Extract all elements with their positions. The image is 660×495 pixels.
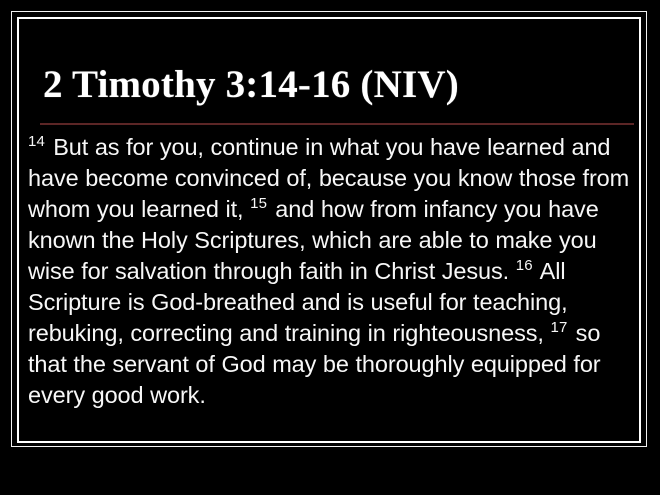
verse-number-16: 16 [516, 257, 535, 274]
slide-content-area: 2 Timothy 3:14-16 (NIV) 14 But as for yo… [19, 19, 639, 441]
scripture-slide: 2 Timothy 3:14-16 (NIV) 14 But as for yo… [0, 0, 660, 495]
verse-number-14: 14 [28, 133, 47, 150]
verse-number-15: 15 [250, 195, 269, 212]
page-title: 2 Timothy 3:14-16 (NIV) [43, 63, 459, 107]
scripture-passage-text: 14 But as for you, continue in what you … [28, 132, 639, 411]
title-divider-rule [40, 123, 634, 125]
verse-number-17: 17 [550, 319, 569, 336]
